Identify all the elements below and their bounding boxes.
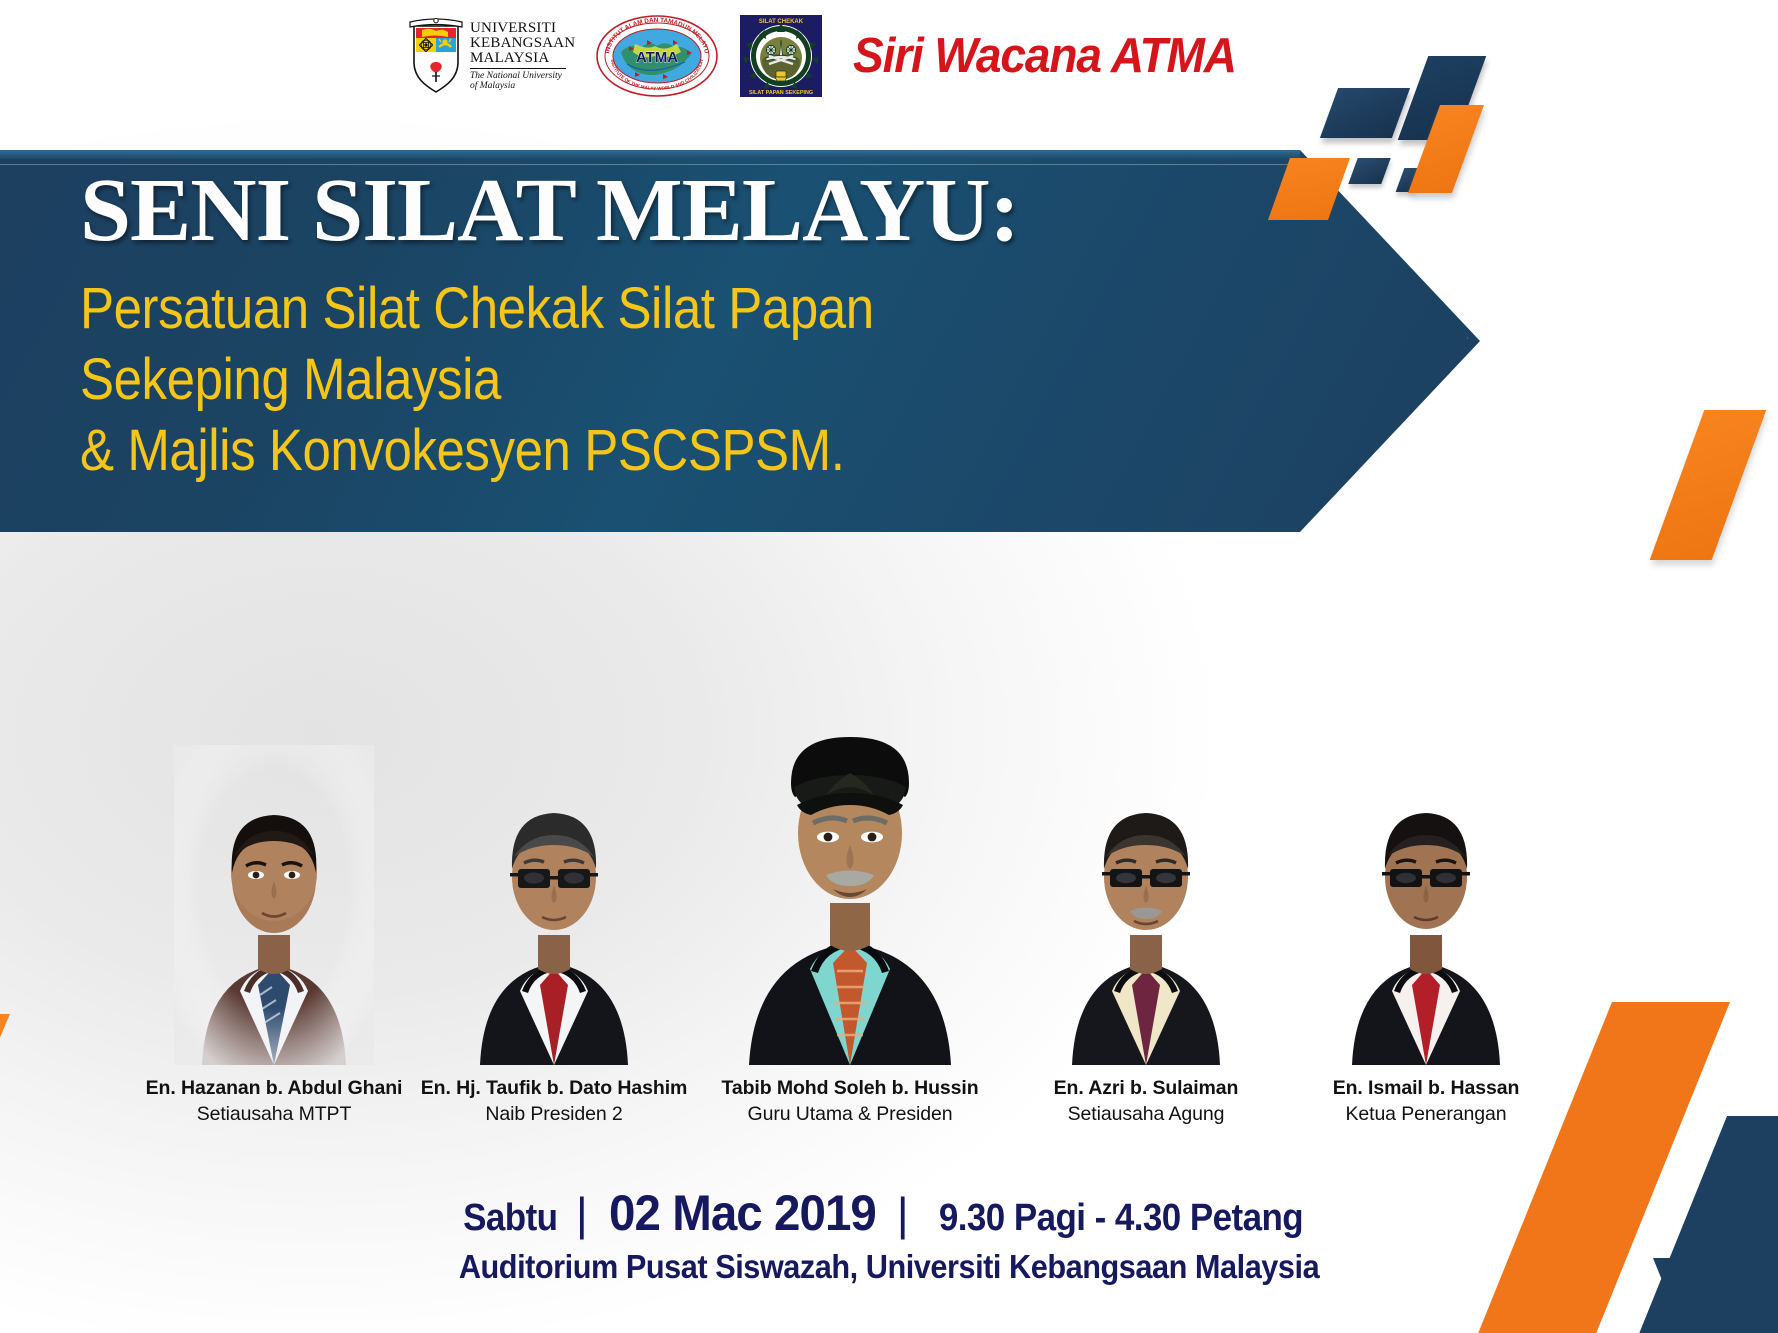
series-title: Siri Wacana ATMA: [853, 28, 1236, 84]
logo-row: UNIVERSITI KEBANGSAAN MALAYSIA The Natio…: [408, 14, 1261, 98]
subtitle-line-3: & Majlis Konvokesyen PSCSPSM.: [80, 416, 1154, 487]
subtitle-line-2: Sekeping Malaysia: [80, 345, 1154, 416]
ukm-divider: [470, 68, 566, 69]
portrait-hazanan: [140, 745, 408, 1065]
speaker-role: Setiausaha Agung: [1068, 1103, 1225, 1126]
speaker-card: En. Hazanan b. Abdul Ghani Setiausaha MT…: [140, 745, 408, 1126]
speaker-role: Guru Utama & Presiden: [748, 1103, 953, 1126]
ukm-tagline-2: of Malaysia: [470, 81, 575, 91]
event-time: 9.30 Pagi - 4.30 Petang: [939, 1197, 1303, 1240]
subtitle-group: Persatuan Silat Chekak Silat Papan Sekep…: [80, 274, 1300, 486]
title-text-block: SENI SILAT MELAYU: Persatuan Silat Cheka…: [80, 166, 1300, 486]
svg-text:SILAT PAPAN SEKEPING: SILAT PAPAN SEKEPING: [749, 90, 813, 96]
speaker-name: En. Ismail b. Hassan: [1333, 1077, 1520, 1100]
portrait-azri: [1012, 745, 1280, 1065]
portrait-ismail: [1292, 745, 1560, 1065]
footer-separator-2: |: [897, 1191, 909, 1237]
silat-chekak-emblem-icon: SILAT CHEKAK SILAT PAPAN SEKEPING: [739, 14, 823, 98]
speaker-role: Setiausaha MTPT: [197, 1103, 352, 1126]
speaker-role: Ketua Penerangan: [1345, 1103, 1506, 1126]
event-venue: Auditorium Pusat Siswazah, Universiti Ke…: [62, 1248, 1716, 1286]
svg-text:SILAT CHEKAK: SILAT CHEKAK: [759, 19, 804, 25]
ukm-line-1: UNIVERSITI: [470, 21, 575, 36]
subtitle-line-1: Persatuan Silat Chekak Silat Papan: [80, 274, 1154, 345]
event-details-footer: Sabtu | 02 Mac 2019 | 9.30 Pagi - 4.30 P…: [0, 1184, 1778, 1286]
ukm-line-3: MALAYSIA: [470, 51, 575, 66]
svg-text:ATMA: ATMA: [636, 49, 678, 66]
speaker-name: En. Hazanan b. Abdul Ghani: [146, 1077, 403, 1100]
speaker-card: En. Ismail b. Hassan Ketua Penerangan: [1292, 745, 1560, 1126]
deco-parallelogram-orange-2: [1650, 410, 1767, 560]
event-datetime-row: Sabtu | 02 Mac 2019 | 9.30 Pagi - 4.30 P…: [0, 1184, 1778, 1242]
event-day: Sabtu: [463, 1197, 557, 1240]
portrait-taufik: [420, 745, 688, 1065]
ukm-logo: UNIVERSITI KEBANGSAAN MALAYSIA The Natio…: [408, 18, 575, 94]
event-poster: UNIVERSITI KEBANGSAAN MALAYSIA The Natio…: [0, 0, 1778, 1333]
speaker-card: En. Hj. Taufik b. Dato Hashim Naib Presi…: [420, 745, 688, 1126]
page-title: SENI SILAT MELAYU:: [80, 166, 1324, 256]
speaker-name: Tabib Mohd Soleh b. Hussin: [721, 1077, 978, 1100]
atma-seal-icon: ATMA INSTITUT ALAM DAN TAMADUN MELAYU IN…: [595, 14, 719, 98]
footer-separator-1: |: [576, 1191, 588, 1237]
ukm-wordmark: UNIVERSITI KEBANGSAAN MALAYSIA The Natio…: [470, 21, 575, 92]
speaker-role: Naib Presiden 2: [485, 1103, 622, 1126]
ukm-crest-icon: [408, 18, 464, 94]
speaker-card: Tabib Mohd Soleh b. Hussin Guru Utama & …: [700, 665, 1000, 1126]
speaker-list: En. Hazanan b. Abdul Ghani Setiausaha MT…: [140, 586, 1560, 1126]
poster-header: UNIVERSITI KEBANGSAAN MALAYSIA The Natio…: [0, 0, 1778, 128]
ukm-tagline-1: The National University: [470, 71, 575, 81]
ukm-line-2: KEBANGSAAN: [470, 36, 575, 51]
banner-top-strip: [0, 150, 1300, 159]
speaker-name: En. Azri b. Sulaiman: [1054, 1077, 1239, 1100]
speaker-name: En. Hj. Taufik b. Dato Hashim: [421, 1077, 688, 1100]
event-date: 02 Mac 2019: [609, 1184, 876, 1242]
portrait-mohd-soleh: [700, 665, 1000, 1065]
speaker-card: En. Azri b. Sulaiman Setiausaha Agung: [1012, 745, 1280, 1126]
